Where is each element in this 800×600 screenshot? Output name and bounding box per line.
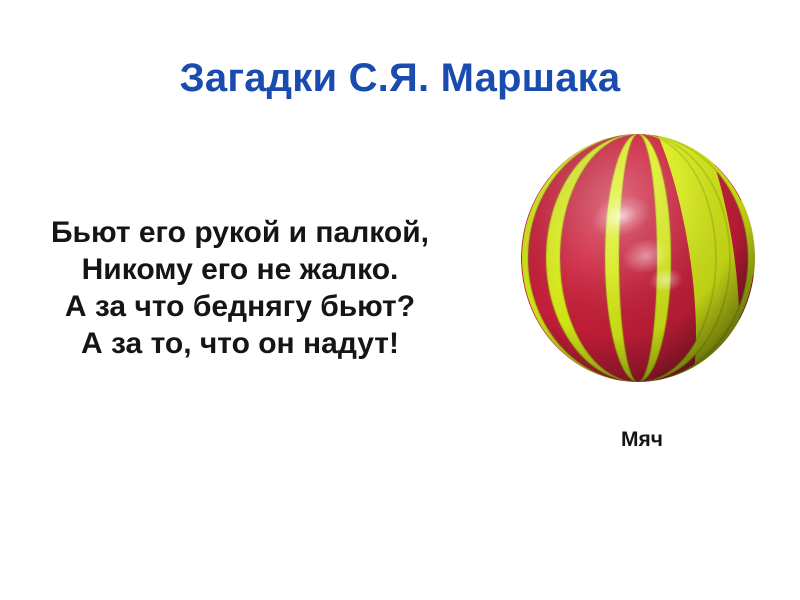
riddle-line: А за то, что он надут!: [14, 325, 466, 362]
slide-canvas: Загадки С.Я. Маршака Бьют его рукой и па…: [0, 0, 800, 600]
riddle-line: Никому его не жалко.: [14, 251, 466, 288]
answer-caption: Мяч: [518, 428, 766, 452]
striped-ball-icon: [518, 128, 766, 386]
riddle-line: Бьют его рукой и палкой,: [14, 214, 466, 251]
riddle-line: А за что беднягу бьют?: [14, 288, 466, 325]
ball-body: [521, 128, 766, 386]
answer-illustration-figure: Мяч: [518, 128, 766, 458]
riddle-text-block: Бьют его рукой и палкой, Никому его не ж…: [14, 214, 466, 362]
page-title: Загадки С.Я. Маршака: [0, 55, 800, 101]
